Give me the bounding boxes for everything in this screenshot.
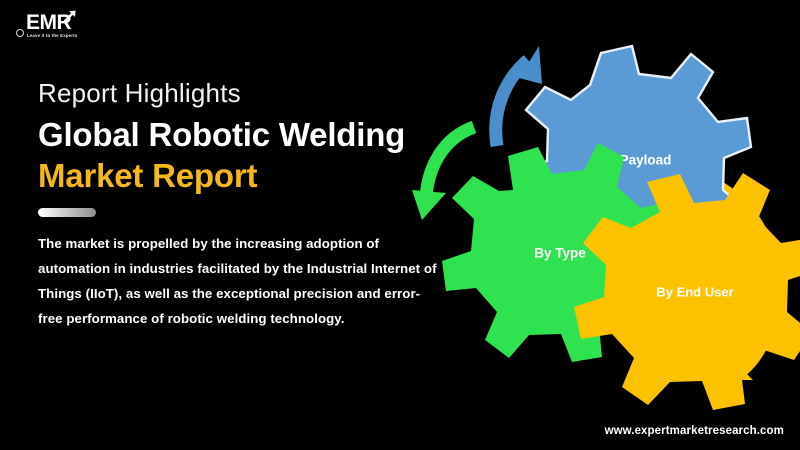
arrow-up-right-icon xyxy=(62,8,78,29)
gear-label-type: By Type xyxy=(534,246,586,261)
circle-outline-icon xyxy=(16,29,24,37)
kicker-text: Report Highlights xyxy=(38,78,438,108)
logo-tagline: Leave it to the Experts xyxy=(27,33,77,38)
gear-label-end-user: By End User xyxy=(656,284,733,299)
body-paragraph: The market is propelled by the increasin… xyxy=(38,231,438,331)
divider-bar xyxy=(38,208,96,217)
blue-arrow-icon xyxy=(496,46,542,146)
headline-block: Report Highlights Global Robotic Welding… xyxy=(38,78,438,331)
footer-website-url[interactable]: www.expertmarketresearch.com xyxy=(605,425,784,437)
page-title-line2: Market Report xyxy=(38,157,438,195)
segmentation-gear-diagram: By Payload By Type By End User xyxy=(395,30,800,410)
emr-logo[interactable]: EMR Leave it to the Experts xyxy=(14,8,86,42)
page-title-line1: Global Robotic Welding xyxy=(38,116,438,154)
